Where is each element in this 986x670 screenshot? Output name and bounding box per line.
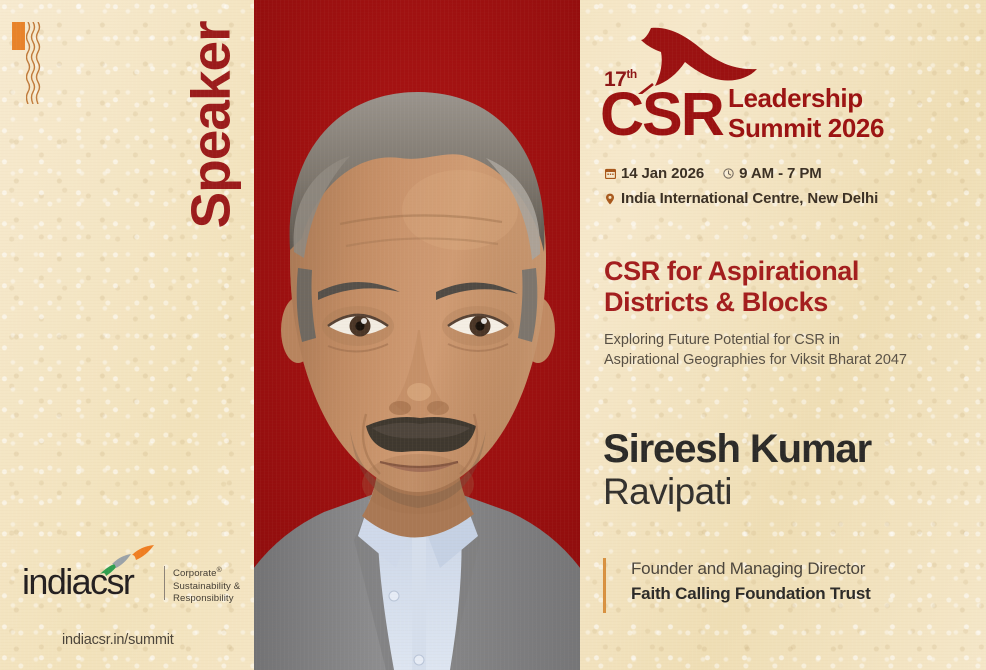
- tagline-line2: Sustainability &: [173, 581, 240, 593]
- portrait-panel: [254, 0, 580, 670]
- summit-theme-subtitle-line1: Exploring Future Potential for CSR in: [604, 330, 974, 350]
- brand-acronym: CSR: [600, 84, 723, 145]
- summit-theme-title: CSR for Aspirational Districts & Blocks: [604, 256, 974, 318]
- indiacsr-tagline: Corporate® Sustainability & Responsibili…: [173, 565, 240, 605]
- event-meta-row-2: India International Centre, New Delhi: [604, 188, 984, 209]
- tagline-line1-text: Corporate: [173, 568, 217, 579]
- speaker-poster: Speaker: [0, 0, 986, 670]
- edition-suffix: th: [626, 67, 636, 81]
- event-venue: India International Centre, New Delhi: [604, 188, 878, 209]
- summit-brand-lockup: 17th CSR Leadership Summit 2026: [600, 22, 986, 147]
- event-time: 9 AM - 7 PM: [722, 163, 822, 184]
- event-meta: 14 Jan 2026 9 AM - 7 PM: [604, 163, 984, 209]
- summit-url[interactable]: indiacsr.in/summit: [62, 632, 174, 648]
- speaker-last-name: Ravipati: [603, 471, 983, 513]
- wavy-lines-icon: [26, 22, 44, 104]
- speaker-organisation: Faith Calling Foundation Trust: [631, 581, 986, 606]
- brand-subtitle-line1: Leadership: [728, 85, 884, 111]
- brand-subtitle-line2: Summit 2026: [728, 115, 884, 141]
- location-pin-icon: [604, 192, 616, 205]
- logo-divider: [164, 566, 165, 600]
- accent-rule: [603, 558, 606, 613]
- speaker-designation: Founder and Managing Director: [631, 556, 986, 581]
- summit-theme-subtitle-line2: Aspirational Geographies for Viksit Bhar…: [604, 350, 974, 370]
- speaker-role: Founder and Managing Director Faith Call…: [603, 556, 986, 606]
- summit-theme-subtitle: Exploring Future Potential for CSR in As…: [604, 330, 974, 370]
- registered-mark: ®: [217, 567, 222, 574]
- event-date-label: 14 Jan 2026: [621, 163, 704, 184]
- event-time-label: 9 AM - 7 PM: [739, 163, 822, 184]
- indiacsr-logo: indiacsr Corporate® Sustainability & Res…: [22, 552, 242, 612]
- speaker-name: Sireesh Kumar Ravipati: [603, 428, 983, 513]
- event-date: 14 Jan 2026: [604, 163, 704, 184]
- speaker-badge-label: Speaker: [179, 21, 243, 228]
- orange-block-icon: [12, 22, 25, 50]
- summit-theme-title-line2: Districts & Blocks: [604, 287, 974, 318]
- indiacsr-wordmark: indiacsr: [22, 564, 133, 600]
- calendar-icon: [604, 167, 616, 180]
- content-column: 17th CSR Leadership Summit 2026: [600, 0, 986, 670]
- summit-theme: CSR for Aspirational Districts & Blocks …: [604, 256, 974, 370]
- speaker-badge: Speaker: [168, 0, 254, 250]
- tagline-line1: Corporate®: [173, 565, 240, 581]
- speaker-photo: [254, 0, 580, 670]
- speaker-first-name: Sireesh Kumar: [603, 428, 983, 471]
- brand-subtitle: Leadership Summit 2026: [728, 85, 884, 141]
- event-venue-label: India International Centre, New Delhi: [621, 188, 878, 209]
- clock-icon: [722, 167, 734, 180]
- tagline-line3: Responsibility: [173, 593, 240, 605]
- event-meta-row-1: 14 Jan 2026 9 AM - 7 PM: [604, 163, 984, 184]
- summit-theme-title-line1: CSR for Aspirational: [604, 256, 974, 287]
